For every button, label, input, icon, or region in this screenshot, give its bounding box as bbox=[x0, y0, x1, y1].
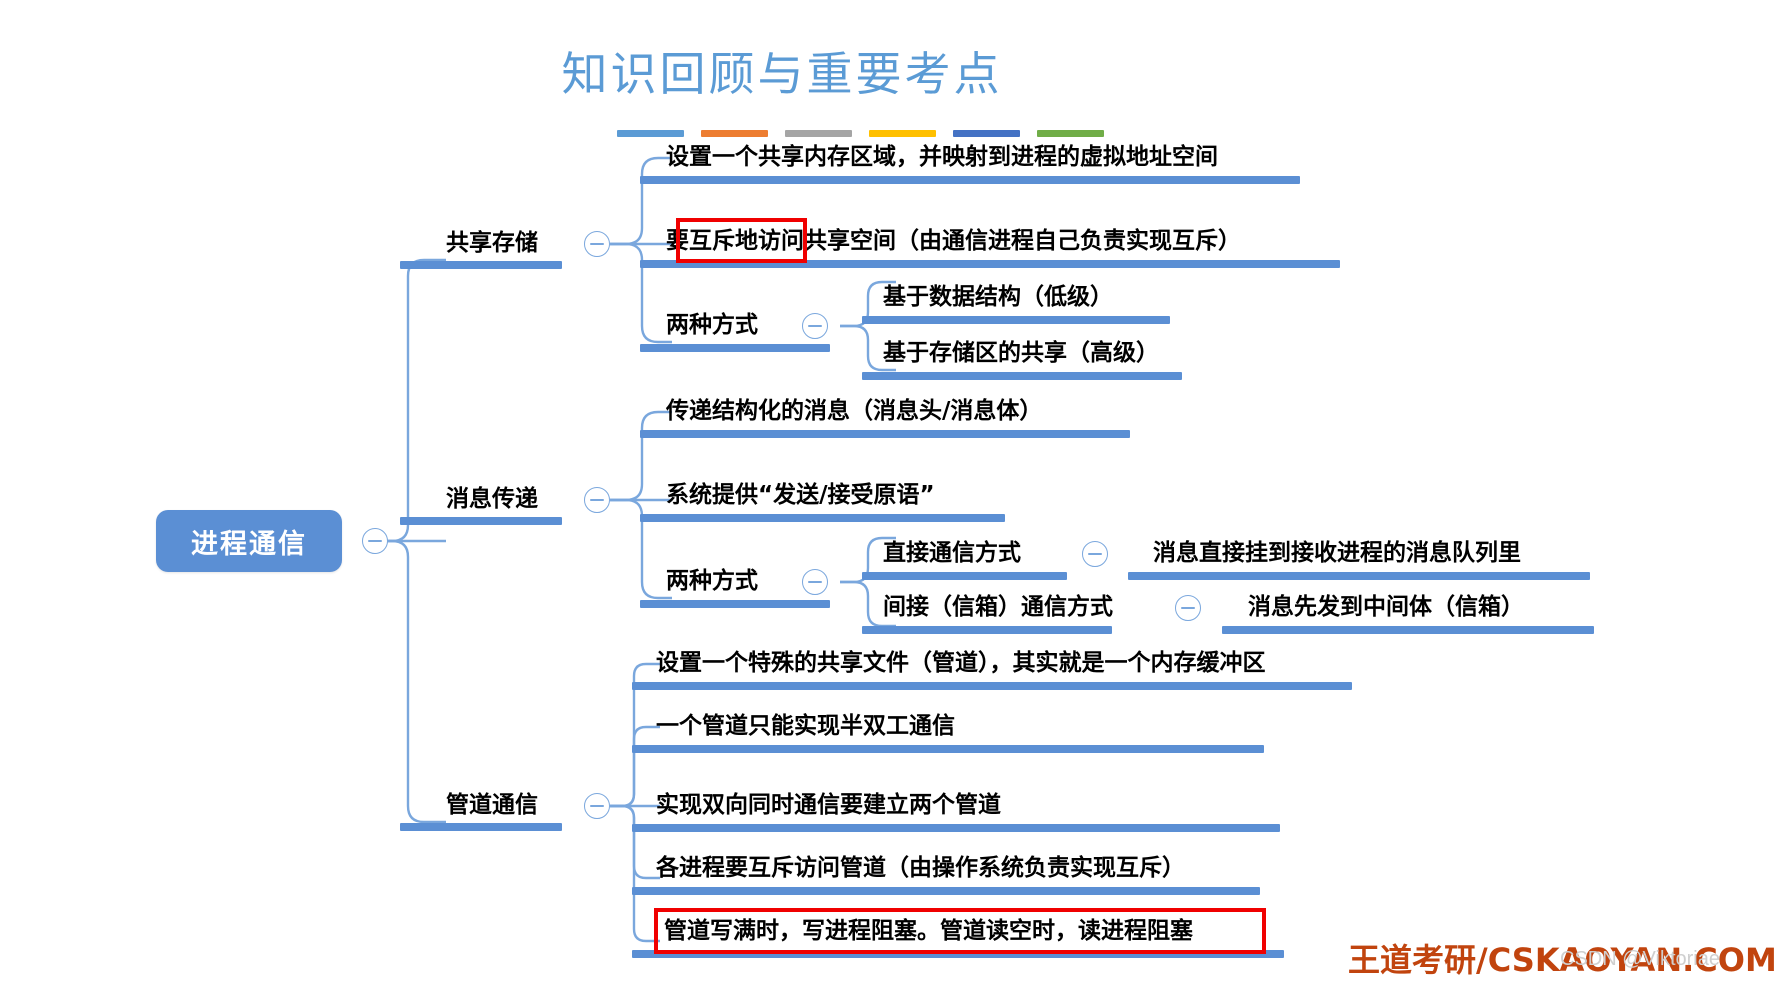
leaf-underline-pipe-4 bbox=[632, 887, 1260, 895]
sublabel-underline-two-ways-2 bbox=[640, 600, 830, 608]
root-node[interactable]: 进程通信 bbox=[156, 510, 342, 572]
leaf-shared-storage-two-ways-2[interactable]: 基于存储区的共享（高级） bbox=[880, 340, 1162, 366]
sublabel-shared-storage-two-ways[interactable]: 两种方式 bbox=[663, 312, 761, 338]
branch-underline-pipe-communication bbox=[400, 823, 562, 831]
toggle-minus-circle-icon-indirect-communication[interactable] bbox=[1175, 595, 1201, 621]
leaf-underline-pipe-2 bbox=[632, 745, 1264, 753]
toggle-minus-circle-icon-pipe-communication[interactable] bbox=[584, 793, 610, 819]
leaf-underline-message-passing-1 bbox=[640, 430, 1130, 438]
branch-label-message-passing[interactable]: 消息传递 bbox=[443, 486, 541, 512]
branch-underline-shared-storage bbox=[400, 261, 562, 269]
leaf-underline-message-passing-2 bbox=[640, 514, 1005, 522]
leaf-shared-storage-two-ways-1[interactable]: 基于数据结构（低级） bbox=[880, 284, 1116, 310]
leaf-underline-pipe-3 bbox=[632, 824, 1280, 832]
root-toggle-minus-circle-icon[interactable] bbox=[362, 528, 388, 554]
leaf-underline-two-ways-1a bbox=[862, 316, 1170, 324]
sublabel-underline-direct-communication bbox=[862, 572, 1067, 580]
leaf-message-passing-2[interactable]: 系统提供“发送/接受原语” bbox=[663, 482, 938, 508]
leaf-underline-direct-communication-detail bbox=[1128, 572, 1590, 580]
leaf-pipe-2[interactable]: 一个管道只能实现半双工通信 bbox=[653, 713, 958, 739]
sublabel-message-passing-two-ways[interactable]: 两种方式 bbox=[663, 568, 761, 594]
root-node-label: 进程通信 bbox=[191, 522, 307, 561]
accent-bar-blue bbox=[617, 130, 684, 137]
leaf-message-passing-1[interactable]: 传递结构化的消息（消息头/消息体） bbox=[663, 398, 1045, 424]
leaf-direct-communication-detail[interactable]: 消息直接挂到接收进程的消息队列里 bbox=[1150, 540, 1524, 566]
toggle-minus-circle-icon-two-ways-2[interactable] bbox=[802, 569, 828, 595]
accent-bar-gray bbox=[785, 130, 852, 137]
leaf-underline-pipe-1 bbox=[632, 682, 1352, 690]
leaf-pipe-3[interactable]: 实现双向同时通信要建立两个管道 bbox=[653, 792, 1004, 818]
toggle-minus-circle-icon-two-ways-1[interactable] bbox=[802, 313, 828, 339]
slide-canvas: 知识回顾与重要考点 bbox=[0, 0, 1784, 998]
sublabel-indirect-communication[interactable]: 间接（信箱）通信方式 bbox=[880, 594, 1116, 620]
leaf-pipe-1[interactable]: 设置一个特殊的共享文件（管道），其实就是一个内存缓冲区 bbox=[653, 650, 1269, 676]
toggle-minus-circle-icon-shared-storage[interactable] bbox=[584, 231, 610, 257]
leaf-underline-indirect-communication-detail bbox=[1222, 626, 1594, 634]
toggle-minus-circle-icon-message-passing[interactable] bbox=[584, 487, 610, 513]
branch-underline-message-passing bbox=[400, 517, 562, 525]
toggle-minus-circle-icon-direct-communication[interactable] bbox=[1082, 541, 1108, 567]
csdn-credit: CSDN @Viktoriae bbox=[1560, 948, 1720, 971]
leaf-indirect-communication-detail[interactable]: 消息先发到中间体（信箱） bbox=[1245, 594, 1527, 620]
accent-bar-yellow bbox=[869, 130, 936, 137]
sublabel-underline-indirect-communication bbox=[862, 626, 1112, 634]
branch-label-pipe-communication[interactable]: 管道通信 bbox=[443, 792, 541, 818]
sublabel-direct-communication[interactable]: 直接通信方式 bbox=[880, 540, 1024, 566]
accent-bar-green bbox=[1037, 130, 1104, 137]
accent-bar-navy bbox=[953, 130, 1020, 137]
highlight-box-mutual-exclusion-access bbox=[676, 218, 807, 263]
page-title: 知识回顾与重要考点 bbox=[0, 38, 1784, 104]
sublabel-underline-two-ways-1 bbox=[640, 344, 830, 352]
branch-label-shared-storage[interactable]: 共享存储 bbox=[443, 230, 541, 256]
page-title-text: 知识回顾与重要考点 bbox=[562, 38, 1003, 104]
accent-bar-orange bbox=[701, 130, 768, 137]
leaf-underline-shared-storage-1 bbox=[640, 176, 1300, 184]
highlight-box-pipe-blocking bbox=[654, 908, 1266, 954]
leaf-pipe-4[interactable]: 各进程要互斥访问管道（由操作系统负责实现互斥） bbox=[653, 855, 1188, 881]
leaf-shared-storage-1[interactable]: 设置一个共享内存区域，并映射到进程的虚拟地址空间 bbox=[663, 144, 1221, 170]
leaf-underline-two-ways-1b bbox=[862, 372, 1182, 380]
accent-bar-group bbox=[617, 130, 1104, 137]
